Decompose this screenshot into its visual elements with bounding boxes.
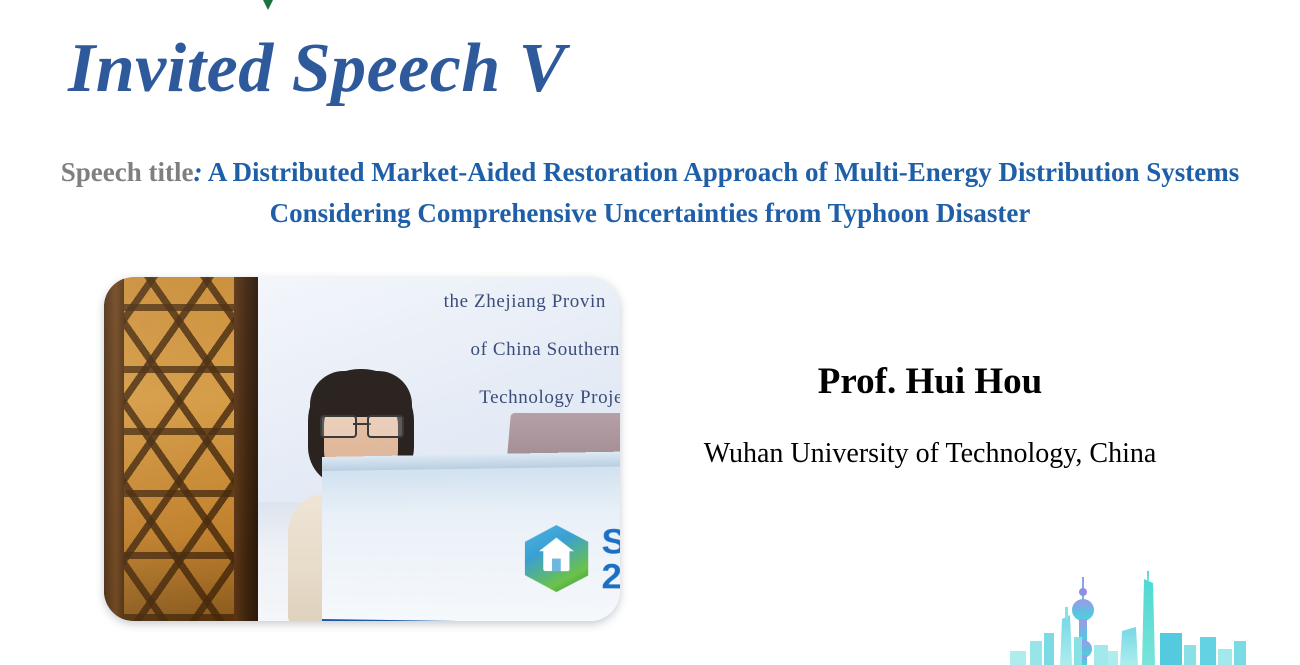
speaker-photo-content: the Zhejiang Provin of China Southern Te…: [104, 277, 620, 621]
projection-screen-line-2: of China Southern: [470, 339, 620, 361]
projection-screen-line-1: the Zhejiang Provin: [444, 291, 606, 313]
page-title: Invited Speech V: [68, 34, 566, 104]
podium-spies-logo: SPIES 2025: [525, 523, 620, 594]
conference-logo-tip-icon: [248, 0, 288, 10]
lattice-right-post: [234, 277, 258, 621]
speaker-glasses-icon: [320, 415, 404, 434]
speech-title-block: Speech title: A Distributed Market-Aided…: [48, 152, 1252, 234]
spies-wordmark: SPIES 2025: [601, 523, 620, 594]
lattice-left-edge: [104, 277, 124, 621]
conference-podium: SPIES 2025 2025 International Conference…: [322, 462, 620, 621]
speech-title-text: A Distributed Market-Aided Restoration A…: [208, 157, 1239, 228]
spies-hexagon-house-icon: [525, 525, 588, 592]
shanghai-skyline-icon: [1010, 545, 1260, 665]
speech-title-colon: :: [193, 157, 202, 187]
spies-name-text: SPIES: [601, 523, 620, 559]
projection-screen-line-3: Technology Project: [479, 387, 620, 409]
podium-blue-stripe: [322, 619, 620, 621]
glasses-left-lens: [320, 415, 357, 438]
spies-year-text: 2025: [601, 559, 620, 595]
glasses-right-lens: [367, 415, 404, 438]
speaker-fringe: [310, 371, 412, 417]
speech-title-label: Speech title: [61, 157, 194, 187]
speaker-photo: the Zhejiang Provin of China Southern Te…: [104, 277, 620, 621]
speaker-name: Prof. Hui Hou: [660, 360, 1200, 403]
speaker-affiliation: Wuhan University of Technology, China: [660, 438, 1200, 470]
wooden-lattice-panel: [104, 277, 254, 621]
house-door-icon: [552, 559, 561, 572]
slide-root: Invited Speech V Speech title: A Distrib…: [0, 0, 1300, 665]
